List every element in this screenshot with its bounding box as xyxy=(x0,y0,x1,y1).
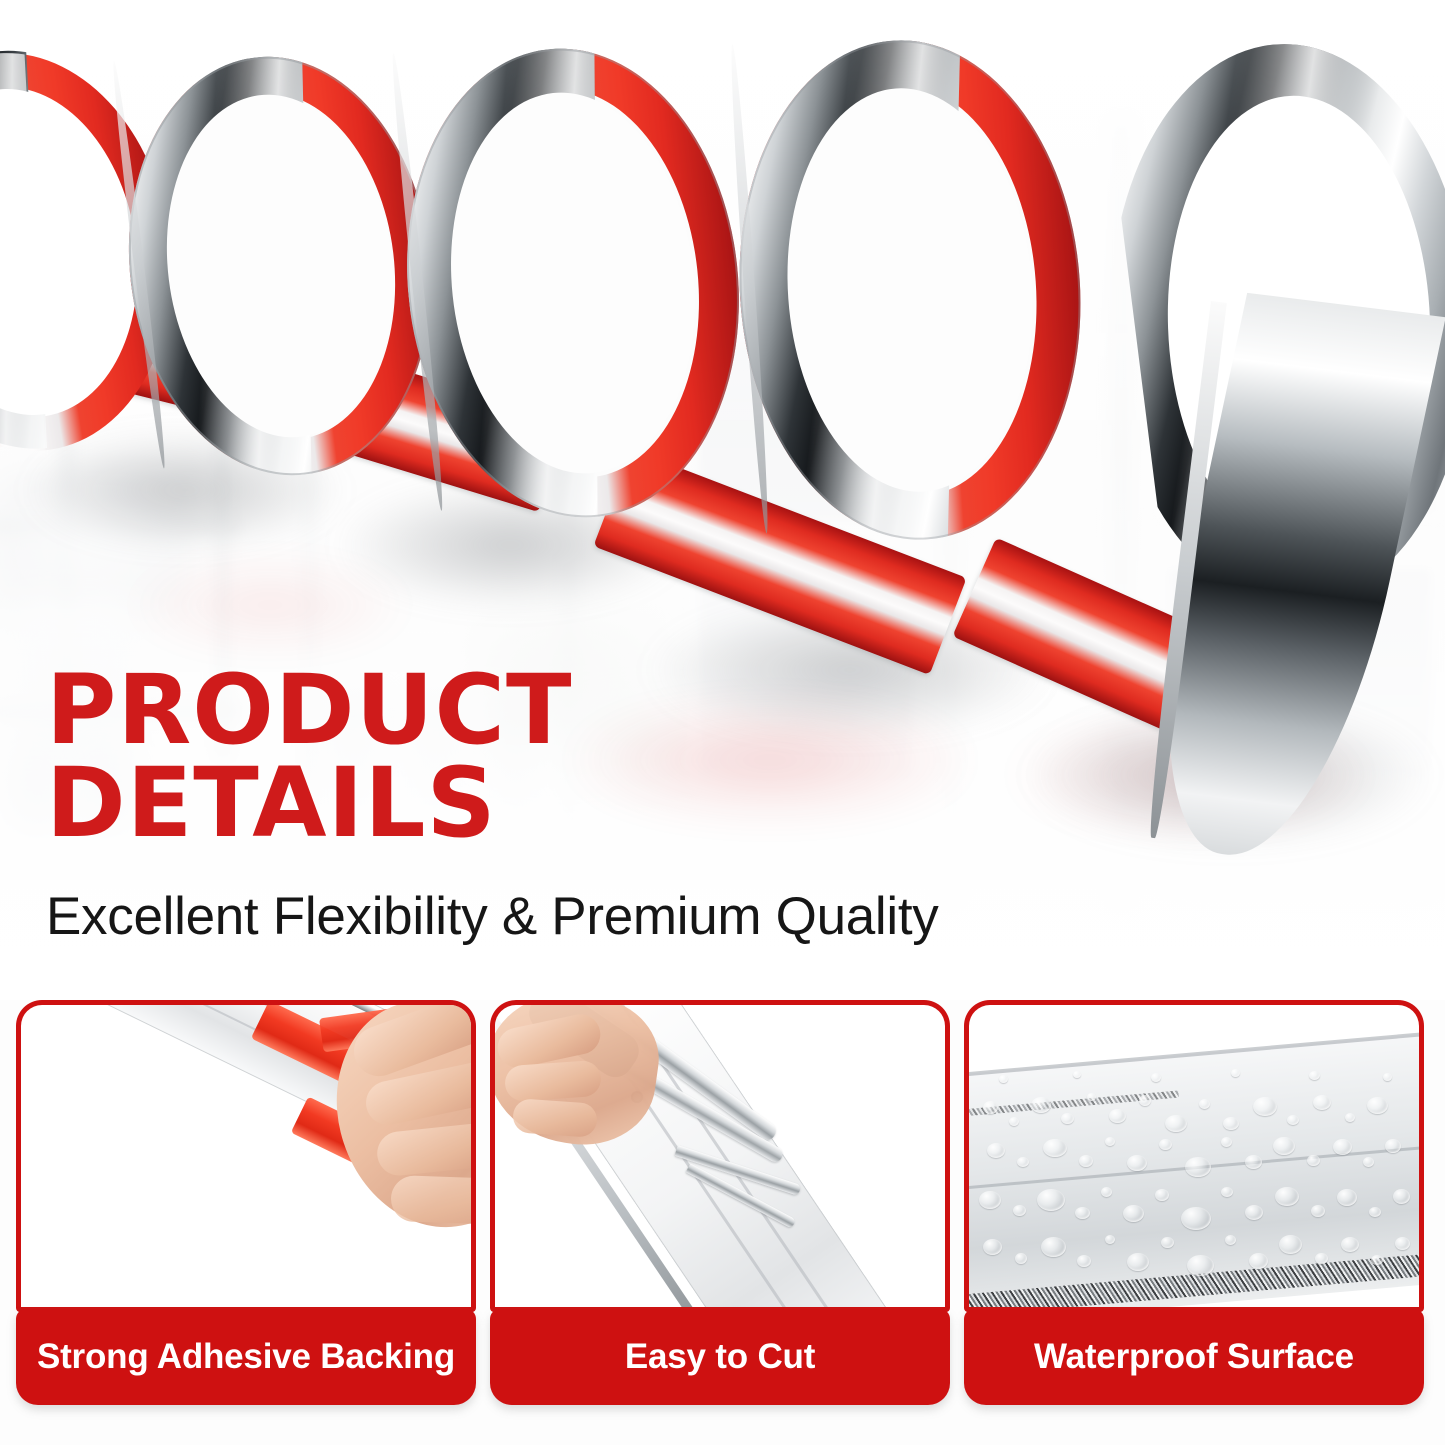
feature-panel-waterproof-surface[interactable]: Waterproof Surface xyxy=(964,1000,1424,1405)
tape-coil-3 xyxy=(384,32,761,534)
page-title: PRODUCT DETAILS xyxy=(46,664,1146,850)
caption-waterproof-surface: Waterproof Surface xyxy=(964,1309,1424,1405)
caption-label: Easy to Cut xyxy=(625,1337,815,1377)
photo-strong-adhesive-backing xyxy=(16,1000,476,1312)
caption-easy-to-cut: Easy to Cut xyxy=(490,1309,950,1405)
feature-panel-strong-adhesive-backing[interactable]: Strong Adhesive Backing xyxy=(16,1000,476,1405)
photo-easy-to-cut xyxy=(490,1000,950,1312)
caption-label: Waterproof Surface xyxy=(1034,1337,1354,1377)
caption-strong-adhesive-backing: Strong Adhesive Backing xyxy=(16,1309,476,1405)
water-droplets xyxy=(969,1005,1419,1307)
title-block: PRODUCT DETAILS Excellent Flexibility & … xyxy=(46,664,1146,947)
photo-waterproof-surface xyxy=(964,1000,1424,1312)
product-detail-infographic: PRODUCT DETAILS Excellent Flexibility & … xyxy=(0,0,1445,1445)
page-title-line-2: DETAILS xyxy=(46,757,1146,850)
feature-panels: Strong Adhesive Backing xyxy=(0,1000,1445,1445)
feature-panel-easy-to-cut[interactable]: Easy to Cut xyxy=(490,1000,950,1405)
tape-coil-4 xyxy=(723,29,1097,551)
caption-label: Strong Adhesive Backing xyxy=(37,1337,455,1377)
page-subtitle: Excellent Flexibility & Premium Quality xyxy=(46,886,1146,947)
